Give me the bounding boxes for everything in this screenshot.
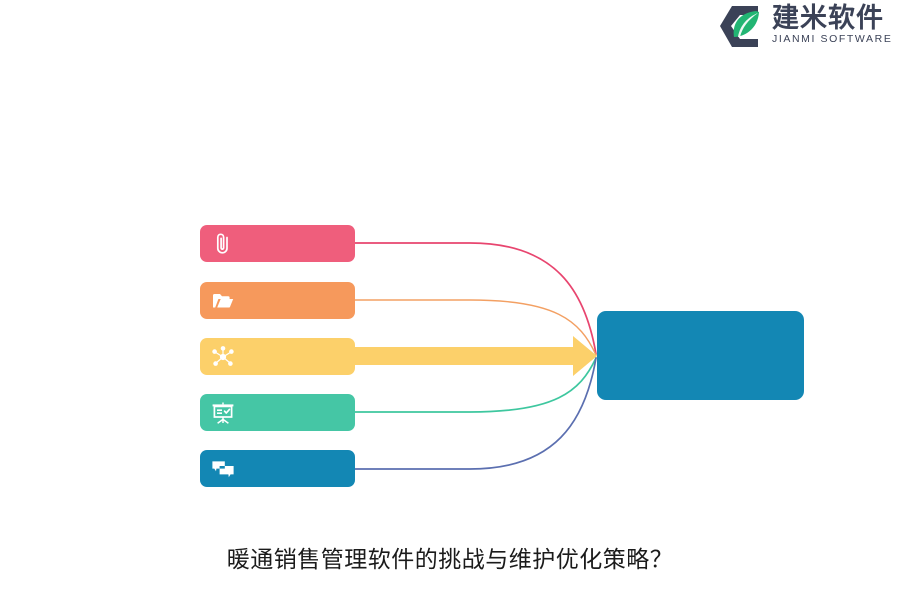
presentation-board-icon (210, 400, 236, 426)
source-node-1[interactable] (200, 225, 355, 262)
connector-line-5 (355, 358, 596, 469)
target-node[interactable] (597, 311, 804, 400)
connector-line-4 (355, 358, 596, 412)
source-node-5[interactable] (200, 450, 355, 487)
convergence-flow-diagram (0, 0, 900, 600)
connector-layer (0, 0, 900, 600)
connector-line-2 (355, 300, 596, 355)
connector-arrow-3 (355, 336, 597, 376)
page-caption: 暖通销售管理软件的挑战与维护优化策略？ (0, 540, 900, 574)
network-hub-icon (210, 344, 236, 370)
source-node-4[interactable] (200, 394, 355, 431)
open-folder-icon (210, 288, 236, 314)
paperclip-icon (210, 231, 236, 257)
connector-line-1 (355, 243, 596, 354)
source-node-3[interactable] (200, 338, 355, 375)
chat-bubbles-icon (210, 456, 236, 482)
source-node-2[interactable] (200, 282, 355, 319)
